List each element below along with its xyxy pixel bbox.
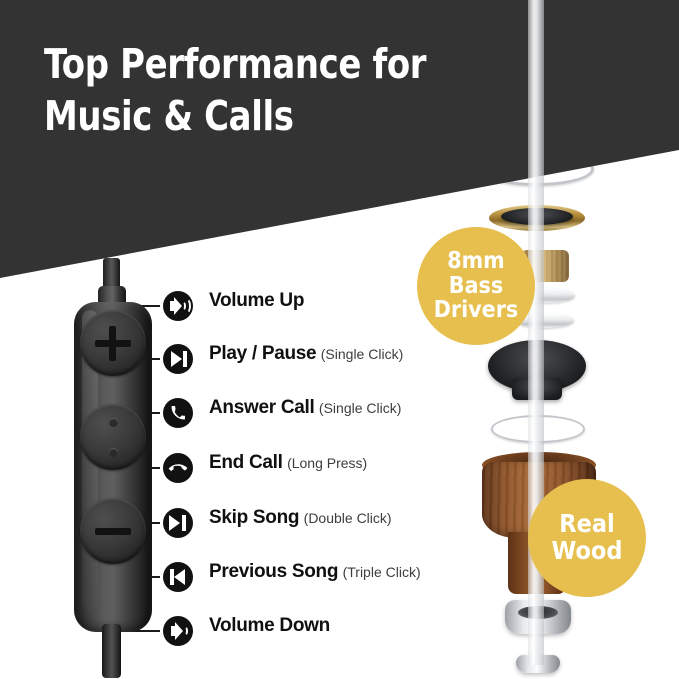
plus-icon-vertical bbox=[109, 326, 116, 361]
play-triangle bbox=[171, 351, 182, 367]
feature-label: Skip Song bbox=[209, 507, 299, 528]
volume-up-button[interactable] bbox=[80, 310, 146, 376]
page-title: Top Performance for Music & Calls bbox=[44, 38, 426, 143]
feature-sublabel: (Single Click) bbox=[321, 346, 403, 362]
inline-remote-control bbox=[58, 258, 170, 678]
skip-triangle bbox=[169, 515, 180, 531]
sound-wave-outer bbox=[182, 298, 191, 314]
sound-wave-inner bbox=[182, 626, 188, 636]
volume-down-button[interactable] bbox=[80, 498, 146, 564]
feature-volume-down: Volume Down bbox=[163, 616, 330, 646]
feature-sublabel: (Triple Click) bbox=[343, 564, 421, 580]
multifunction-button[interactable] bbox=[80, 404, 146, 470]
feature-volume-up: Volume Up bbox=[163, 291, 304, 321]
skip-song-icon bbox=[163, 508, 193, 538]
feature-label: Volume Up bbox=[209, 290, 304, 311]
bass-driver-badge-text: 8mm Bass Drivers bbox=[434, 249, 519, 323]
feature-end-call: End Call (Long Press) bbox=[163, 453, 367, 483]
end-call-icon bbox=[163, 453, 193, 483]
phone-handset bbox=[171, 405, 185, 421]
pause-bar bbox=[183, 351, 187, 367]
center-shaft-upper bbox=[528, 0, 544, 150]
previous-song-icon bbox=[163, 562, 193, 592]
feature-label: Answer Call bbox=[209, 397, 314, 418]
feature-skip-song: Skip Song (Double Click) bbox=[163, 508, 392, 538]
answer-call-icon bbox=[163, 398, 193, 428]
bass-driver-badge: 8mm Bass Drivers bbox=[417, 227, 535, 345]
real-wood-badge: Real Wood bbox=[528, 479, 646, 597]
dot-icon-bottom bbox=[109, 448, 118, 457]
minus-icon bbox=[95, 528, 131, 535]
skip-bar bbox=[182, 515, 186, 531]
play-pause-icon bbox=[163, 344, 193, 374]
feature-play-pause: Play / Pause (Single Click) bbox=[163, 344, 403, 374]
previous-triangle bbox=[174, 569, 185, 585]
volume-up-icon bbox=[163, 291, 193, 321]
feature-sublabel: (Double Click) bbox=[304, 510, 392, 526]
feature-answer-call: Answer Call (Single Click) bbox=[163, 398, 401, 428]
feature-label: Previous Song bbox=[209, 561, 338, 582]
dot-icon-top bbox=[109, 418, 118, 427]
feature-sublabel: (Single Click) bbox=[319, 400, 401, 416]
real-wood-badge-text: Real Wood bbox=[552, 511, 623, 565]
infographic-canvas: 8mm Bass Drivers Real Wood Top Performan… bbox=[0, 0, 679, 679]
feature-previous-song: Previous Song (Triple Click) bbox=[163, 562, 421, 592]
feature-label: End Call bbox=[209, 452, 283, 473]
feature-label: Volume Down bbox=[209, 615, 330, 636]
cable-lower bbox=[102, 624, 121, 678]
feature-label: Play / Pause bbox=[209, 343, 316, 364]
feature-sublabel: (Long Press) bbox=[287, 455, 367, 471]
phone-handset-down bbox=[167, 457, 188, 478]
volume-down-icon bbox=[163, 616, 193, 646]
